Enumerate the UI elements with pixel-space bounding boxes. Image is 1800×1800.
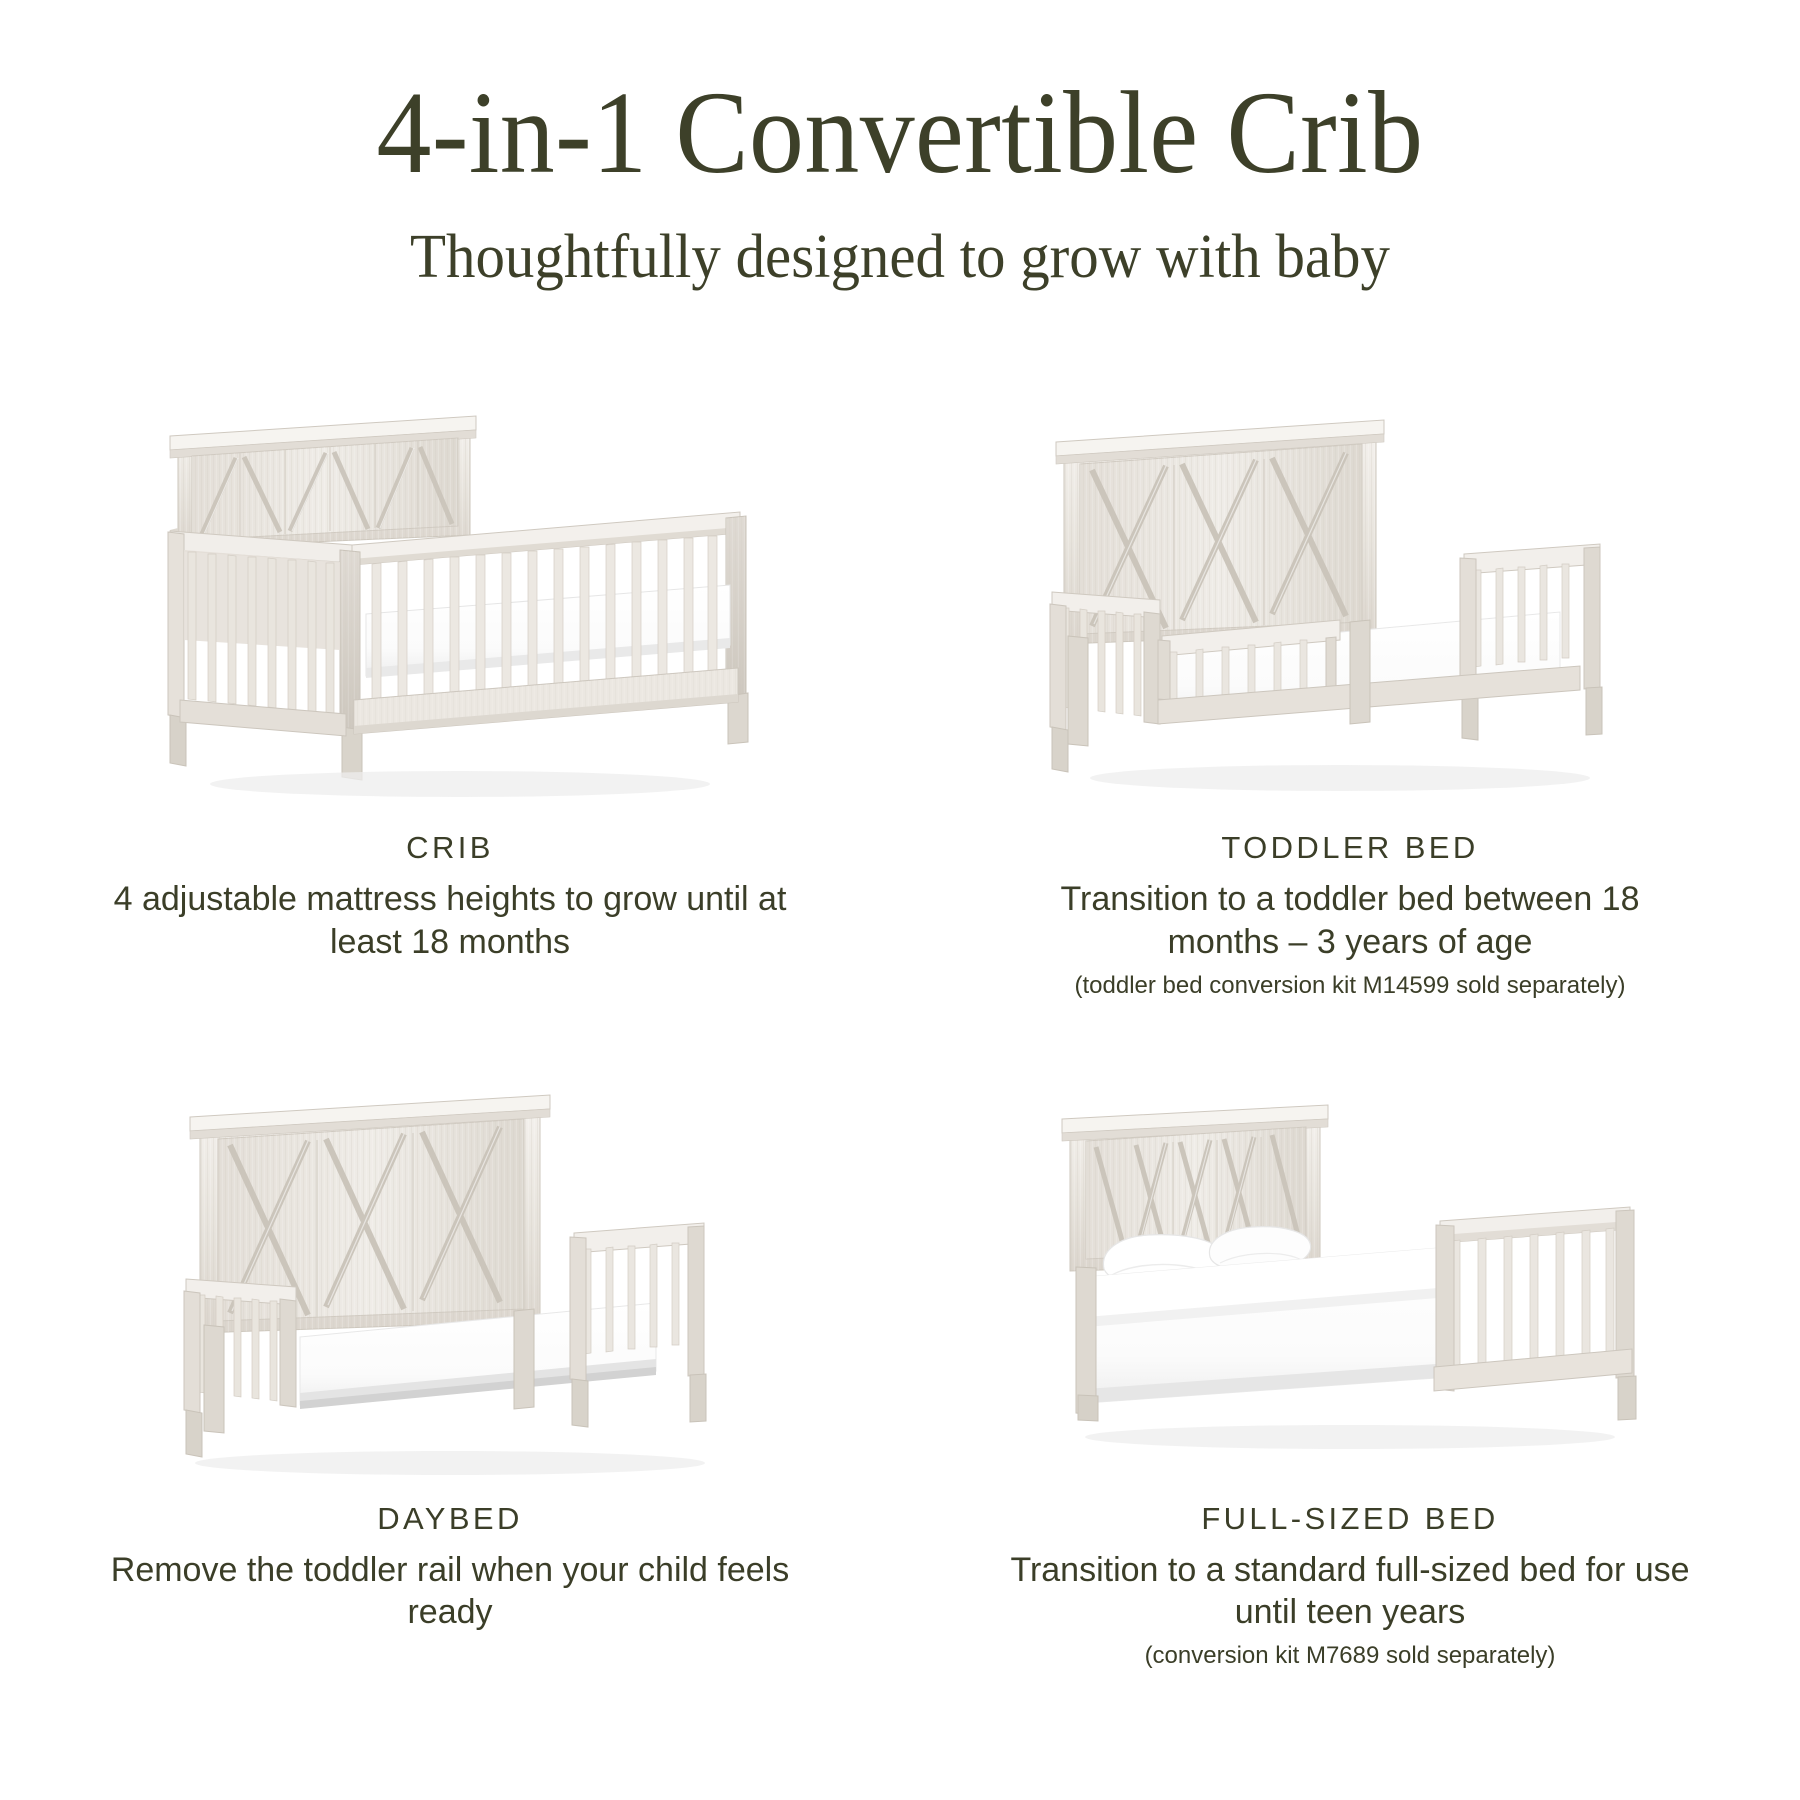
crib-headboard [170, 416, 476, 548]
panel-label-full-sized-bed: FULL-SIZED BED [1201, 1501, 1498, 1537]
page-title: 4-in-1 Convertible Crib [63, 74, 1737, 192]
header: 4-in-1 Convertible Crib Thoughtfully des… [0, 0, 1800, 288]
panel-crib: CRIB 4 adjustable mattress heights to gr… [0, 400, 900, 1001]
infographic-page: 4-in-1 Convertible Crib Thoughtfully des… [0, 0, 1800, 1800]
panel-fine-print-toddler-bed: (toddler bed conversion kit M14599 sold … [1075, 971, 1626, 1001]
panel-toddler-bed: TODDLER BED Transition to a toddler bed … [900, 400, 1800, 1001]
panel-daybed: DAYBED Remove the toddler rail when your… [0, 1071, 900, 1672]
panel-full-sized-bed: FULL-SIZED BED Transition to a standard … [900, 1071, 1800, 1672]
panel-body-crib: 4 adjustable mattress heights to grow un… [110, 878, 790, 964]
daybed-illustration [140, 1071, 760, 1491]
panel-body-full-sized-bed: Transition to a standard full-sized bed … [1010, 1549, 1690, 1635]
panel-label-crib: CRIB [406, 830, 494, 866]
panel-label-toddler-bed: TODDLER BED [1221, 830, 1478, 866]
panel-label-daybed: DAYBED [377, 1501, 523, 1537]
panel-fine-print-full-sized-bed: (conversion kit M7689 sold separately) [1145, 1641, 1556, 1671]
toddler-bed-illustration [1040, 400, 1660, 820]
fullbed-footboard [1434, 1207, 1636, 1420]
panel-grid: CRIB 4 adjustable mattress heights to gr… [0, 400, 1800, 1671]
panel-body-toddler-bed: Transition to a toddler bed between 18 m… [1010, 878, 1690, 964]
panel-body-daybed: Remove the toddler rail when your child … [110, 1549, 790, 1635]
crib-illustration [140, 400, 760, 820]
full-sized-bed-illustration [1040, 1071, 1660, 1491]
page-subtitle: Thoughtfully designed to grow with baby [45, 226, 1755, 288]
